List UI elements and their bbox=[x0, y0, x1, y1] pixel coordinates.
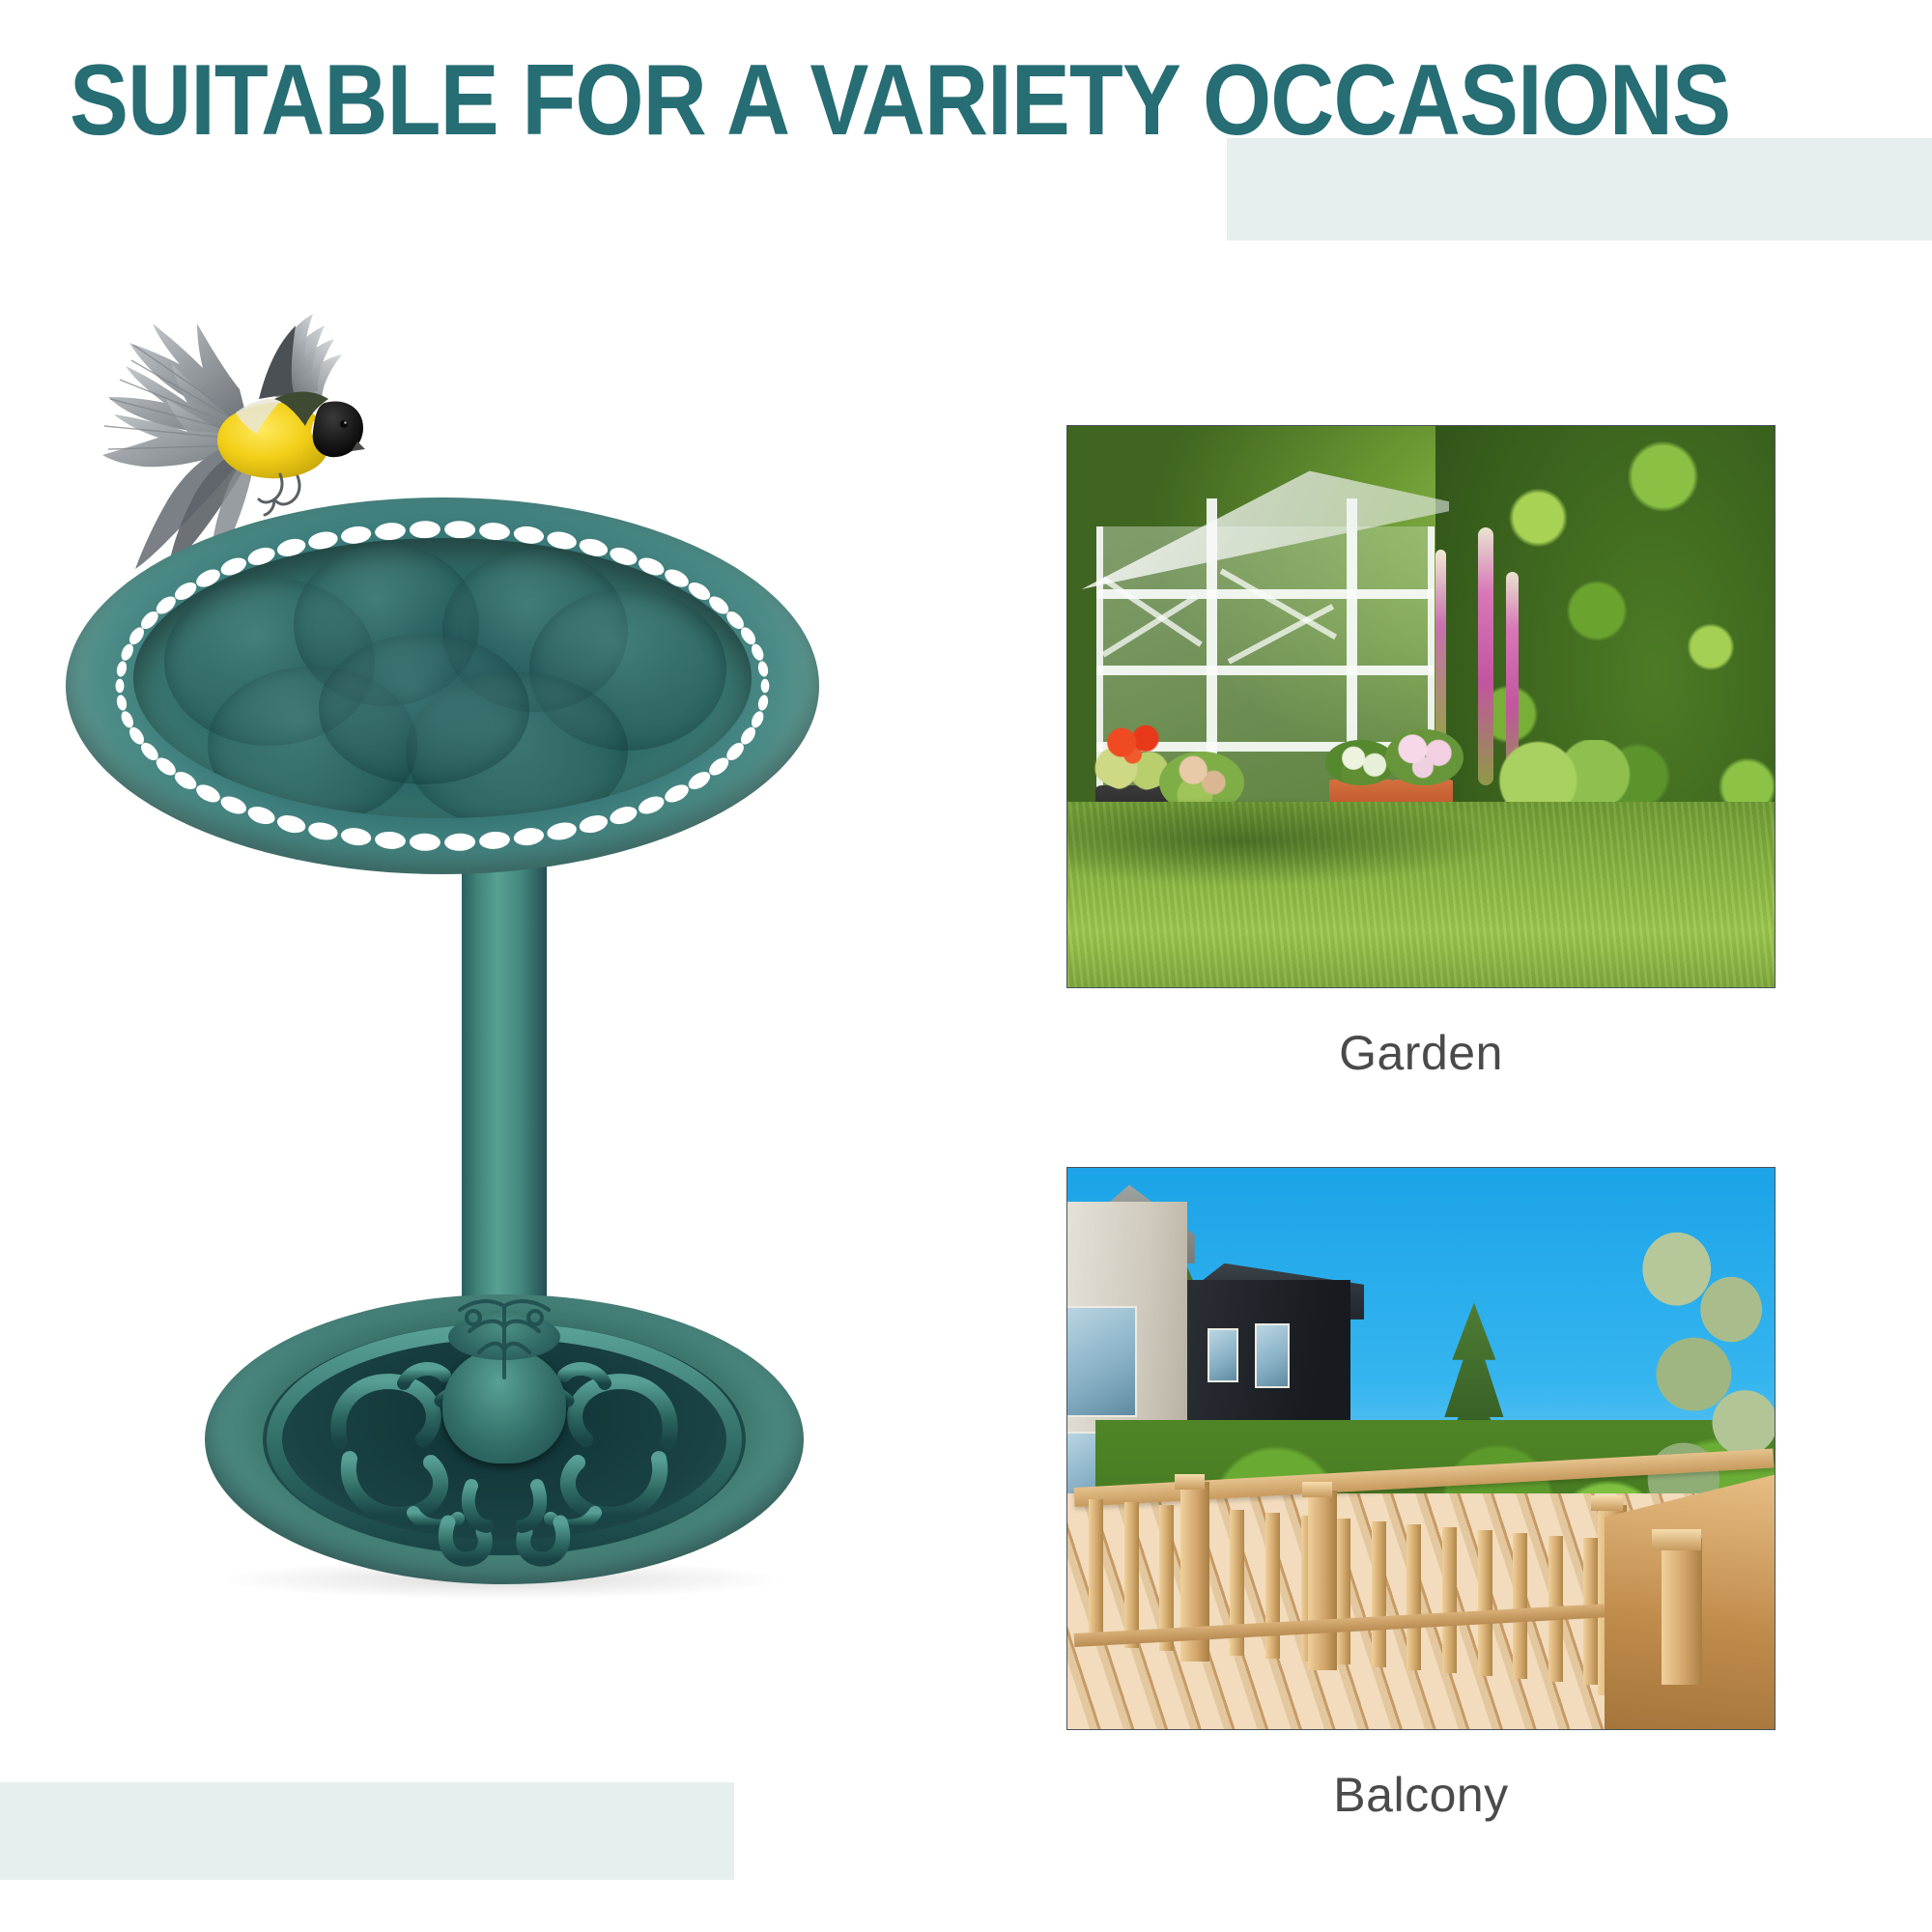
bird-upper-wing bbox=[259, 314, 342, 403]
railing-corner-post-cap bbox=[1652, 1529, 1701, 1550]
pedestal-column bbox=[462, 834, 547, 1346]
garden-photo bbox=[1066, 425, 1776, 988]
balcony-photo bbox=[1066, 1167, 1776, 1730]
foxglove-spike bbox=[1478, 527, 1493, 785]
pedestal-bird-bath-product-image bbox=[58, 497, 840, 1695]
foxglove-spike bbox=[1435, 550, 1446, 741]
occasion-card-garden[interactable]: Garden bbox=[1066, 425, 1776, 1081]
potted-flowers bbox=[1385, 729, 1463, 785]
bowl-basin bbox=[133, 538, 752, 818]
occasion-caption-garden: Garden bbox=[1066, 1025, 1776, 1081]
acanthus-leaf-detail bbox=[440, 1285, 568, 1401]
occasion-card-balcony[interactable]: Balcony bbox=[1066, 1167, 1776, 1823]
bird-breast bbox=[217, 403, 329, 478]
page-title: SUITABLE FOR A VARIETY OCCASIONS bbox=[70, 50, 1685, 151]
bottom-left-accent-band bbox=[0, 1782, 734, 1880]
railing-corner-post bbox=[1662, 1538, 1702, 1684]
occasion-caption-balcony: Balcony bbox=[1066, 1767, 1776, 1823]
